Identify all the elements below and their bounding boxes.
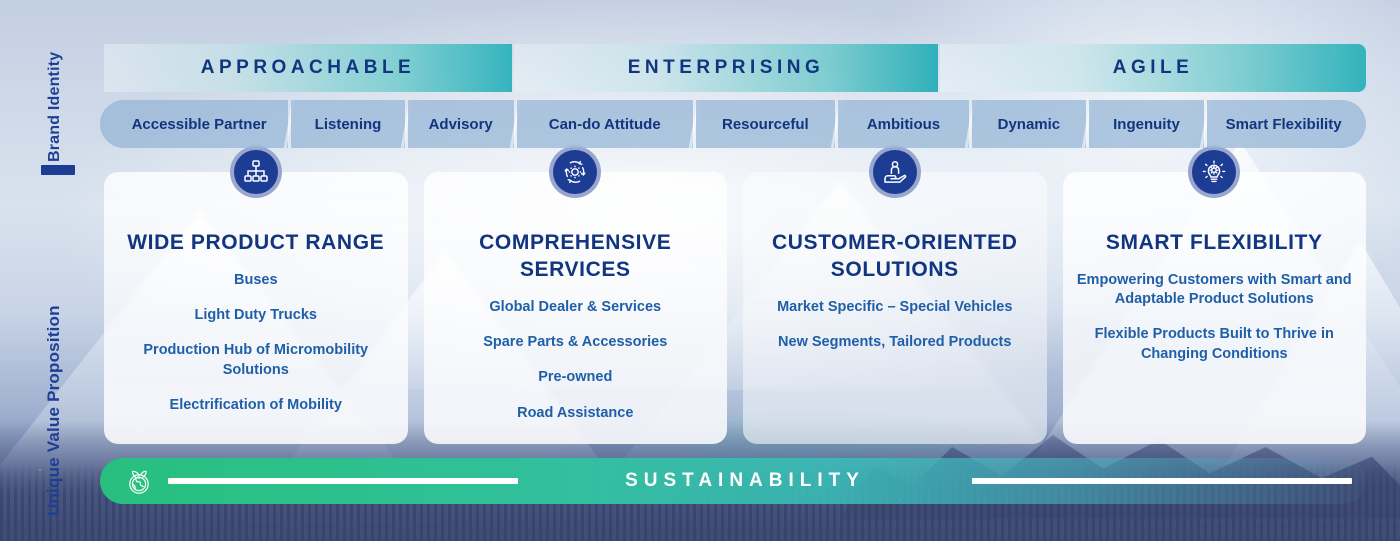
brand-attributes: Accessible Partner Listening Advisory Ca… bbox=[100, 100, 1366, 148]
sustainability-bar[interactable]: SUSTAINABILITY bbox=[100, 458, 1366, 504]
hierarchy-icon bbox=[230, 146, 282, 198]
globe-leaf-icon bbox=[116, 465, 164, 497]
pillar-label: AGILE bbox=[1113, 57, 1194, 79]
sustainability-rule-left bbox=[168, 478, 518, 484]
card-item: Global Dealer & Services bbox=[424, 298, 728, 317]
attribute-label: Ingenuity bbox=[1113, 116, 1180, 133]
card-item: Electrification of Mobility bbox=[104, 396, 408, 415]
pillar-enterprising[interactable]: ENTERPRISING bbox=[514, 44, 938, 92]
lightbulb-gear-icon bbox=[1188, 146, 1240, 198]
card-item: Road Assistance bbox=[424, 404, 728, 423]
card-item: Empowering Customers with Smart and Adap… bbox=[1063, 271, 1367, 310]
attribute-label: Resourceful bbox=[722, 116, 809, 133]
card-smart-flexibility[interactable]: SMART FLEXIBILITY Empowering Customers w… bbox=[1063, 172, 1367, 444]
brand-pillars: APPROACHABLE ENTERPRISING AGILE bbox=[104, 44, 1366, 92]
attribute-label: Accessible Partner bbox=[132, 116, 267, 133]
pillar-agile[interactable]: AGILE bbox=[940, 44, 1366, 92]
card-comprehensive-services[interactable]: COMPREHENSIVE SERVICES Global Dealer & S… bbox=[424, 172, 728, 444]
card-item: Light Duty Trucks bbox=[104, 306, 408, 325]
card-title: COMPREHENSIVE SERVICES bbox=[424, 230, 728, 284]
pillar-label: APPROACHABLE bbox=[201, 57, 415, 79]
card-item: New Segments, Tailored Products bbox=[743, 333, 1047, 352]
card-title: CUSTOMER-ORIENTED SOLUTIONS bbox=[743, 230, 1047, 284]
card-customer-oriented-solutions[interactable]: CUSTOMER-ORIENTED SOLUTIONS Market Speci… bbox=[743, 172, 1047, 444]
attribute-pill-resourceful[interactable]: Resourceful bbox=[696, 100, 835, 148]
attribute-pill-can-do-attitude[interactable]: Can-do Attitude bbox=[517, 100, 693, 148]
attribute-pill-ingenuity[interactable]: Ingenuity bbox=[1089, 100, 1205, 148]
sustainability-rule-right bbox=[972, 478, 1352, 484]
attribute-label: Advisory bbox=[429, 116, 493, 133]
card-title: SMART FLEXIBILITY bbox=[1063, 230, 1367, 257]
sustainability-label: SUSTAINABILITY bbox=[518, 470, 972, 492]
rail-label-unique-value-proposition: Unique Value Proposition bbox=[44, 196, 64, 516]
pillar-approachable[interactable]: APPROACHABLE bbox=[104, 44, 512, 92]
pillar-label: ENTERPRISING bbox=[628, 57, 825, 79]
rail-divider-tick bbox=[41, 165, 75, 175]
card-item: Flexible Products Built to Thrive in Cha… bbox=[1063, 325, 1367, 364]
attribute-label: Ambitious bbox=[867, 116, 940, 133]
attribute-label: Smart Flexibility bbox=[1226, 116, 1342, 133]
card-item: Production Hub of Micromobility Solution… bbox=[104, 341, 408, 380]
value-proposition-cards: WIDE PRODUCT RANGE Buses Light Duty Truc… bbox=[104, 172, 1366, 444]
card-item: Spare Parts & Accessories bbox=[424, 333, 728, 352]
left-rail: Brand Identity Unique Value Proposition bbox=[0, 0, 92, 541]
card-wide-product-range[interactable]: WIDE PRODUCT RANGE Buses Light Duty Truc… bbox=[104, 172, 408, 444]
attribute-pill-listening[interactable]: Listening bbox=[291, 100, 405, 148]
attribute-label: Listening bbox=[315, 116, 382, 133]
card-item: Pre-owned bbox=[424, 368, 728, 387]
attribute-label: Can-do Attitude bbox=[549, 116, 661, 133]
attribute-pill-smart-flexibility[interactable]: Smart Flexibility bbox=[1207, 100, 1366, 148]
gear-cycle-icon bbox=[549, 146, 601, 198]
attribute-pill-accessible-partner[interactable]: Accessible Partner bbox=[100, 100, 288, 148]
card-item: Market Specific – Special Vehicles bbox=[743, 298, 1047, 317]
card-item: Buses bbox=[104, 271, 408, 290]
card-title: WIDE PRODUCT RANGE bbox=[104, 230, 408, 257]
attribute-pill-advisory[interactable]: Advisory bbox=[408, 100, 514, 148]
attribute-pill-ambitious[interactable]: Ambitious bbox=[838, 100, 969, 148]
attribute-label: Dynamic bbox=[998, 116, 1061, 133]
attribute-pill-dynamic[interactable]: Dynamic bbox=[972, 100, 1086, 148]
person-in-hand-icon bbox=[869, 146, 921, 198]
rail-label-brand-identity: Brand Identity bbox=[46, 22, 64, 162]
